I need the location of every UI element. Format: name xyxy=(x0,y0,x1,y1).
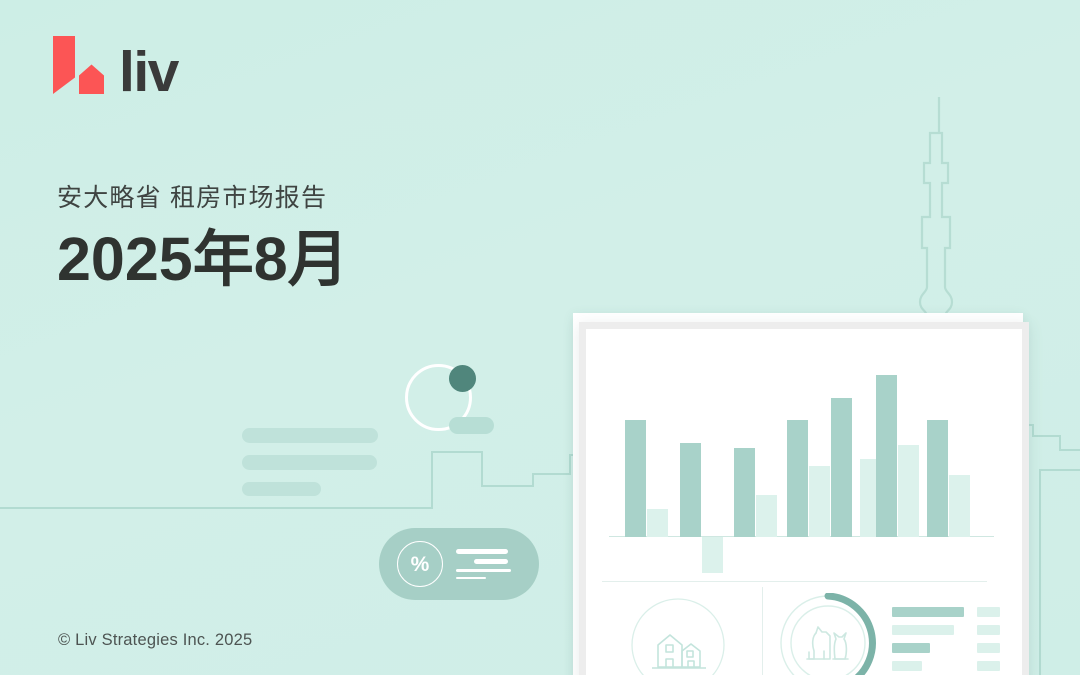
skeleton-line xyxy=(242,482,321,496)
ring-pill-shape xyxy=(449,417,494,434)
chart-bar xyxy=(756,495,777,537)
chart-bar xyxy=(734,448,755,537)
badge-line xyxy=(474,559,508,564)
panel-divider-horizontal xyxy=(602,581,987,582)
chart-bar xyxy=(831,398,852,537)
skeleton-line xyxy=(242,455,377,470)
housing-stat-panel xyxy=(630,597,726,675)
skeleton-line xyxy=(242,428,378,443)
chart-bar xyxy=(898,445,919,537)
report-title: 2025年8月 xyxy=(57,227,577,291)
stat-bar xyxy=(892,643,930,653)
stat-bar-list xyxy=(892,607,1000,675)
percent-badge-lines xyxy=(456,549,511,579)
chart-bar xyxy=(809,466,830,537)
ring-dot-icon xyxy=(449,365,476,392)
chart-bar xyxy=(949,475,970,537)
chart-bar xyxy=(876,375,897,537)
badge-line xyxy=(456,549,508,554)
stat-bar-row xyxy=(892,625,1000,635)
badge-line xyxy=(456,577,486,580)
stat-bar-row xyxy=(892,661,1000,671)
headline-block: 安大略省 租房市场报告 2025年8月 xyxy=(57,183,577,291)
pet-stat-panel xyxy=(778,593,878,675)
chart-bar xyxy=(625,420,646,537)
stat-bar xyxy=(892,661,922,671)
dog-and-cat-icon xyxy=(778,593,878,675)
donut-ring-decoration xyxy=(405,364,472,431)
liv-house-mark-icon xyxy=(50,36,105,94)
right-skyline-outline xyxy=(1040,470,1080,675)
copyright-text: © Liv Strategies Inc. 2025 xyxy=(58,631,252,650)
chart-bar xyxy=(647,509,668,537)
chart-bar xyxy=(787,420,808,537)
brand-logo[interactable]: liv xyxy=(50,32,178,94)
report-subtitle: 安大略省 租房市场报告 xyxy=(57,183,577,213)
report-cover: liv 安大略省 租房市场报告 2025年8月 © Liv Strategies… xyxy=(0,0,1080,675)
stat-chip xyxy=(977,643,1000,653)
percent-symbol: % xyxy=(411,554,430,575)
stat-bar-row xyxy=(892,643,1000,653)
chart-bar xyxy=(702,537,723,573)
stat-chip xyxy=(977,607,1000,617)
stat-bar xyxy=(892,625,954,635)
stat-chip xyxy=(977,625,1000,635)
percent-badge: % xyxy=(379,528,539,600)
bar-chart xyxy=(609,369,994,574)
badge-line xyxy=(456,569,511,572)
chart-bar xyxy=(927,420,948,537)
skeleton-text-lines xyxy=(242,428,378,508)
report-page-front xyxy=(579,322,1029,675)
percent-circle-icon: % xyxy=(397,541,443,587)
liv-wordmark: liv xyxy=(119,46,178,98)
stat-bar-row xyxy=(892,607,1000,617)
stat-bar xyxy=(892,607,964,617)
two-houses-icon xyxy=(630,597,726,675)
panel-divider-vertical xyxy=(762,587,763,675)
stat-chip xyxy=(977,661,1000,671)
chart-bar xyxy=(680,443,701,537)
